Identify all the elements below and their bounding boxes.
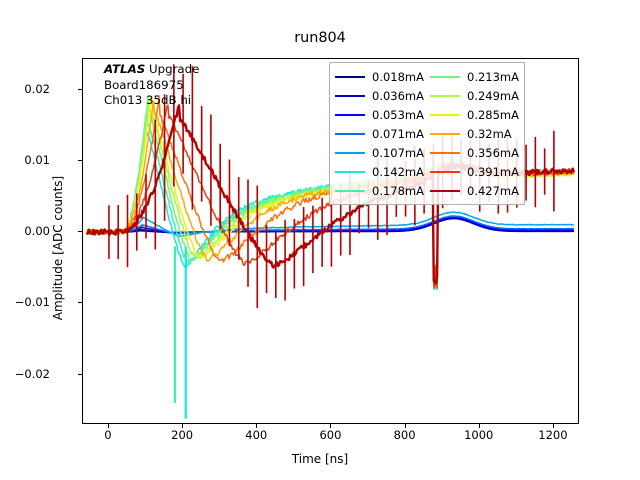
annotation-line-3: Ch013 35dB hi bbox=[104, 93, 199, 109]
x-tick-label: 1000 bbox=[449, 428, 509, 442]
legend-color-swatch bbox=[335, 114, 365, 116]
legend-color-swatch bbox=[335, 190, 365, 192]
legend-entry[interactable]: 0.036mA bbox=[335, 86, 424, 105]
legend-label: 0.285mA bbox=[467, 108, 519, 122]
legend-entry[interactable]: 0.427mA bbox=[430, 181, 519, 200]
legend-entry[interactable]: 0.053mA bbox=[335, 105, 424, 124]
legend-label: 0.213mA bbox=[467, 70, 519, 84]
x-axis-label: Time [ns] bbox=[0, 452, 640, 466]
legend-label: 0.356mA bbox=[467, 146, 519, 160]
x-tick-mark bbox=[182, 424, 183, 428]
legend-entry[interactable]: 0.356mA bbox=[430, 143, 519, 162]
annotation-line-2: Board186975 bbox=[104, 78, 199, 94]
x-tick-mark bbox=[479, 424, 480, 428]
legend-entry[interactable]: 0.213mA bbox=[430, 67, 519, 86]
legend-color-swatch bbox=[430, 171, 460, 173]
upgrade-label: Upgrade bbox=[145, 62, 199, 76]
x-tick-label: 400 bbox=[226, 428, 286, 442]
x-tick-label: 1200 bbox=[523, 428, 583, 442]
x-tick-mark bbox=[405, 424, 406, 428]
legend-label: 0.142mA bbox=[372, 165, 424, 179]
figure-canvas: run804 Amplitude [ADC counts] Time [ns] … bbox=[0, 0, 640, 480]
legend-entry[interactable]: 0.142mA bbox=[335, 162, 424, 181]
legend-label: 0.107mA bbox=[372, 146, 424, 160]
atlas-label: ATLAS bbox=[104, 62, 145, 76]
x-tick-label: 200 bbox=[152, 428, 212, 442]
legend-column-left: 0.018mA0.036mA0.053mA0.071mA0.107mA0.142… bbox=[335, 67, 424, 200]
legend-color-swatch bbox=[430, 152, 460, 154]
x-tick-mark bbox=[553, 424, 554, 428]
legend-color-swatch bbox=[430, 133, 460, 135]
legend-label: 0.391mA bbox=[467, 165, 519, 179]
legend-entry[interactable]: 0.018mA bbox=[335, 67, 424, 86]
x-tick-mark bbox=[256, 424, 257, 428]
legend-column-right: 0.213mA0.249mA0.285mA0.32mA0.356mA0.391m… bbox=[430, 67, 519, 200]
legend-color-swatch bbox=[430, 114, 460, 116]
legend-color-swatch bbox=[430, 95, 460, 97]
page-title: run804 bbox=[0, 30, 640, 46]
legend-entry[interactable]: 0.249mA bbox=[430, 86, 519, 105]
annotation-line-1: ATLAS Upgrade bbox=[104, 62, 199, 78]
legend-label: 0.036mA bbox=[372, 89, 424, 103]
legend: 0.018mA0.036mA0.053mA0.071mA0.107mA0.142… bbox=[329, 62, 525, 205]
legend-label: 0.427mA bbox=[467, 184, 519, 198]
legend-color-swatch bbox=[335, 76, 365, 78]
legend-color-swatch bbox=[335, 133, 365, 135]
legend-entry[interactable]: 0.391mA bbox=[430, 162, 519, 181]
legend-entry[interactable]: 0.178mA bbox=[335, 181, 424, 200]
legend-label: 0.071mA bbox=[372, 127, 424, 141]
y-tick-label: −0.02 bbox=[0, 367, 50, 381]
legend-color-swatch bbox=[430, 76, 460, 78]
legend-entry[interactable]: 0.32mA bbox=[430, 124, 519, 143]
legend-entry[interactable]: 0.107mA bbox=[335, 143, 424, 162]
legend-color-swatch bbox=[335, 152, 365, 154]
legend-label: 0.053mA bbox=[372, 108, 424, 122]
y-tick-label: 0.01 bbox=[0, 153, 50, 167]
legend-color-swatch bbox=[430, 190, 460, 192]
x-tick-label: 0 bbox=[78, 428, 138, 442]
legend-color-swatch bbox=[335, 171, 365, 173]
x-tick-label: 600 bbox=[300, 428, 360, 442]
legend-label: 0.32mA bbox=[467, 127, 512, 141]
x-tick-mark bbox=[108, 424, 109, 428]
y-axis-label: Amplitude [ADC counts] bbox=[51, 98, 65, 398]
legend-entry[interactable]: 0.285mA bbox=[430, 105, 519, 124]
legend-entry[interactable]: 0.071mA bbox=[335, 124, 424, 143]
y-tick-label: −0.01 bbox=[0, 295, 50, 309]
legend-label: 0.178mA bbox=[372, 184, 424, 198]
legend-label: 0.018mA bbox=[372, 70, 424, 84]
atlas-annotation: ATLAS Upgrade Board186975 Ch013 35dB hi bbox=[104, 62, 199, 109]
legend-label: 0.249mA bbox=[467, 89, 519, 103]
y-tick-label: 0.00 bbox=[0, 224, 50, 238]
x-tick-label: 800 bbox=[375, 428, 435, 442]
legend-color-swatch bbox=[335, 95, 365, 97]
y-tick-label: 0.02 bbox=[0, 82, 50, 96]
x-tick-mark bbox=[330, 424, 331, 428]
